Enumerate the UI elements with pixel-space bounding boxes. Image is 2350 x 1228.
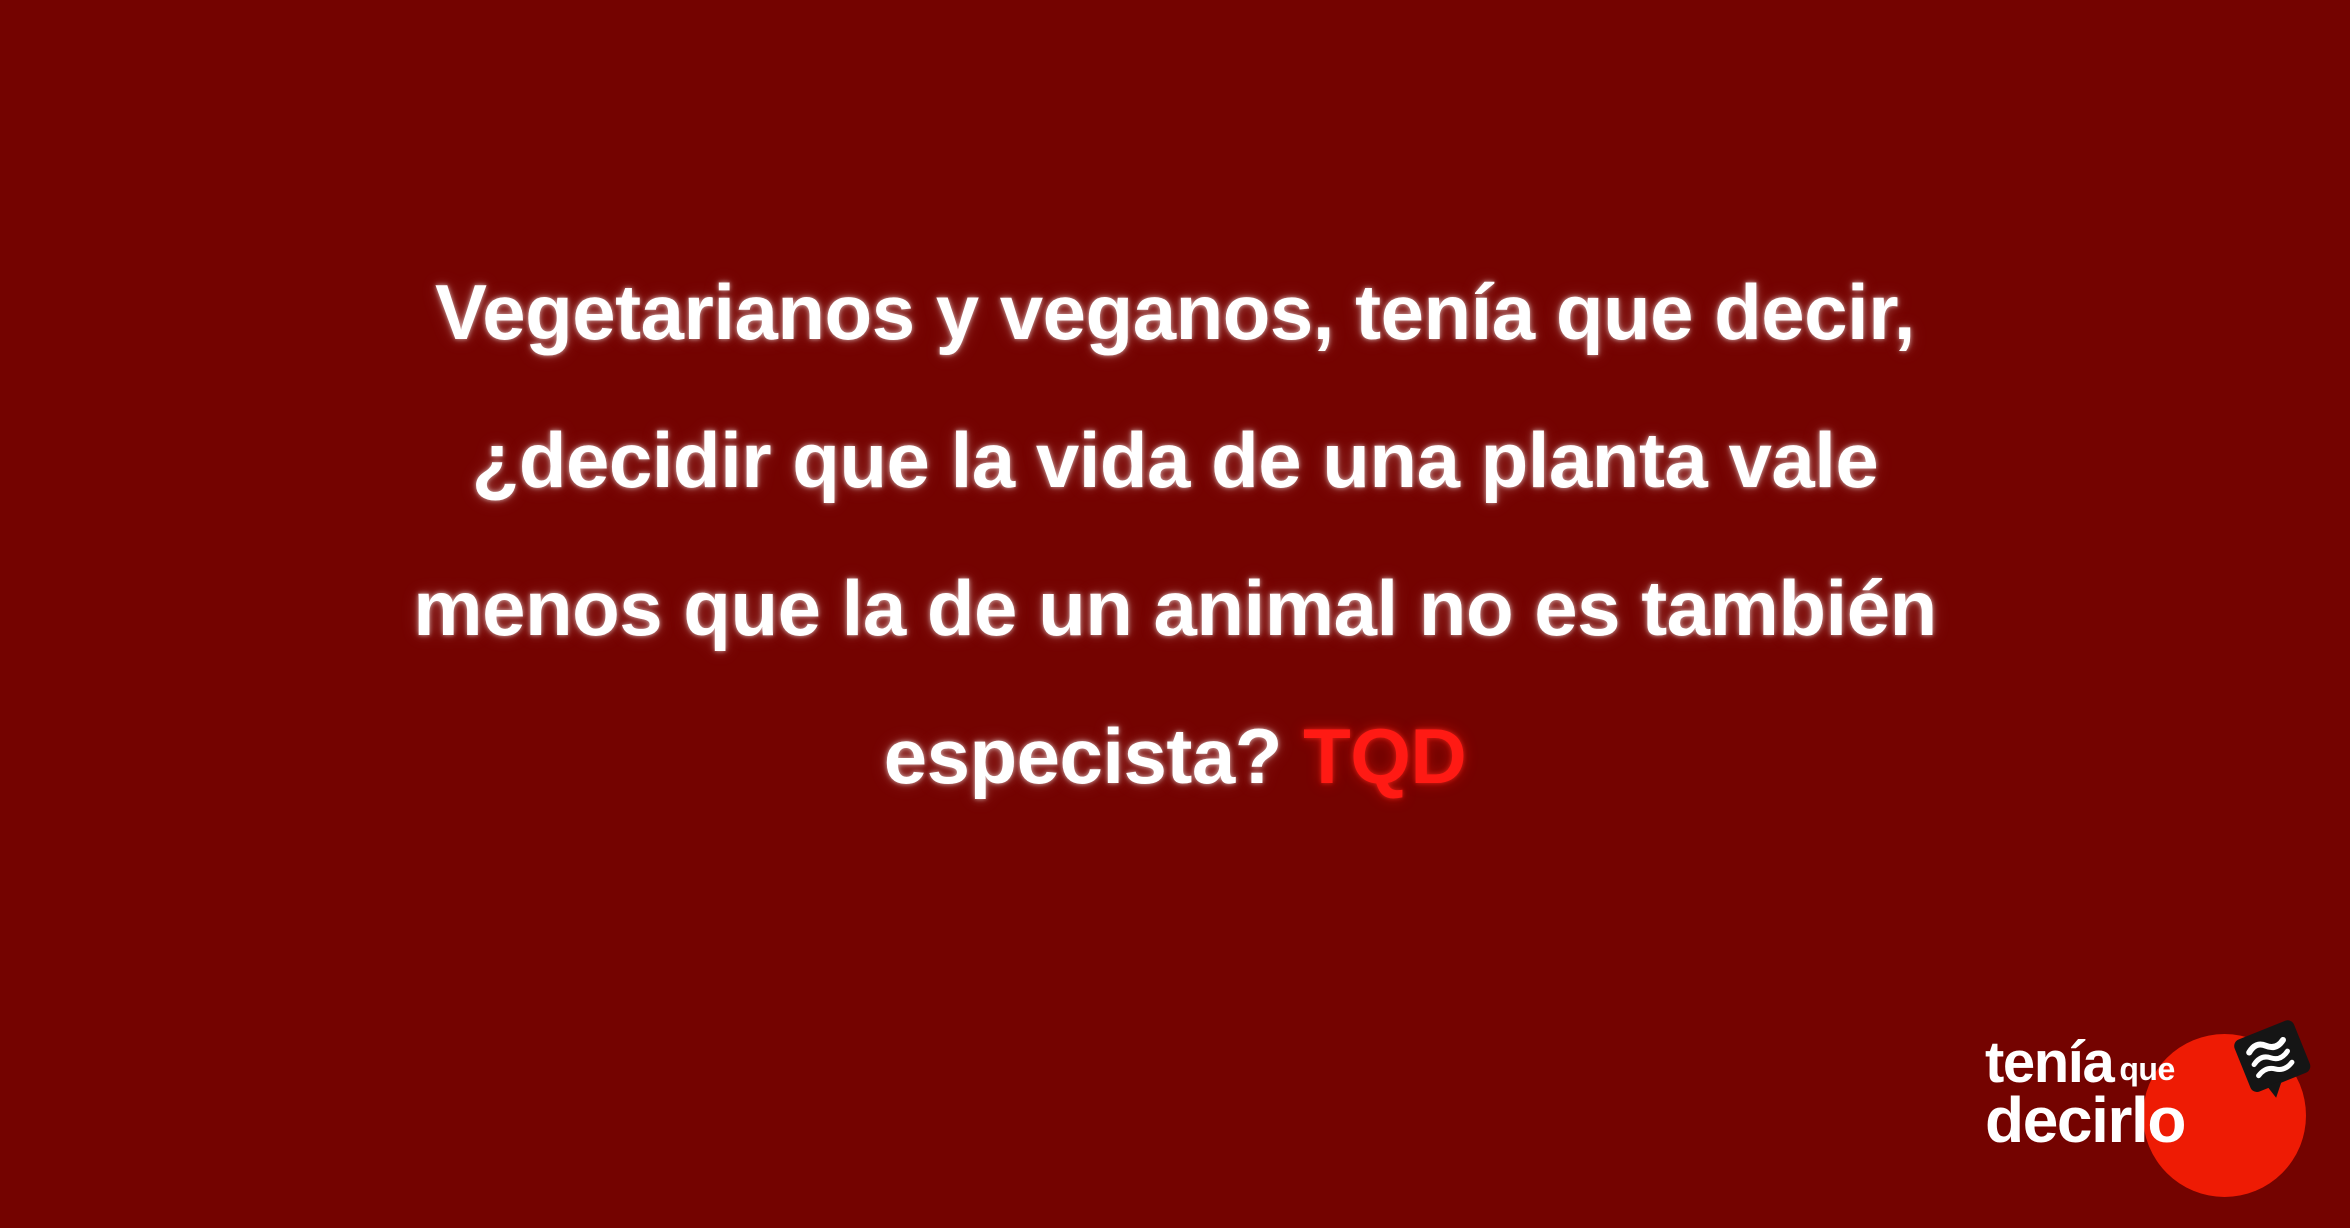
meme-canvas: Vegetarianos y veganos, tenía que decir,…: [0, 0, 2350, 1228]
quote-line-2: ¿decidir que la vida de una planta vale: [230, 386, 2120, 534]
brand-logo[interactable]: teníaque decirlo: [1975, 1012, 2295, 1212]
brand-wordmark-line-2: decirlo: [1985, 1088, 2185, 1152]
tqd-highlight: TQD: [1303, 712, 1466, 800]
quote-text-block: Vegetarianos y veganos, tenía que decir,…: [230, 238, 2120, 830]
quote-line-4: especista? TQD: [230, 682, 2120, 830]
brand-que-text: que: [2119, 1051, 2174, 1087]
quote-line-4-text: especista?: [884, 712, 1303, 800]
speech-bubble-icon: [2227, 1012, 2319, 1104]
quote-line-1: Vegetarianos y veganos, tenía que decir,: [230, 238, 2120, 386]
quote-line-3: menos que la de un animal no es también: [230, 534, 2120, 682]
